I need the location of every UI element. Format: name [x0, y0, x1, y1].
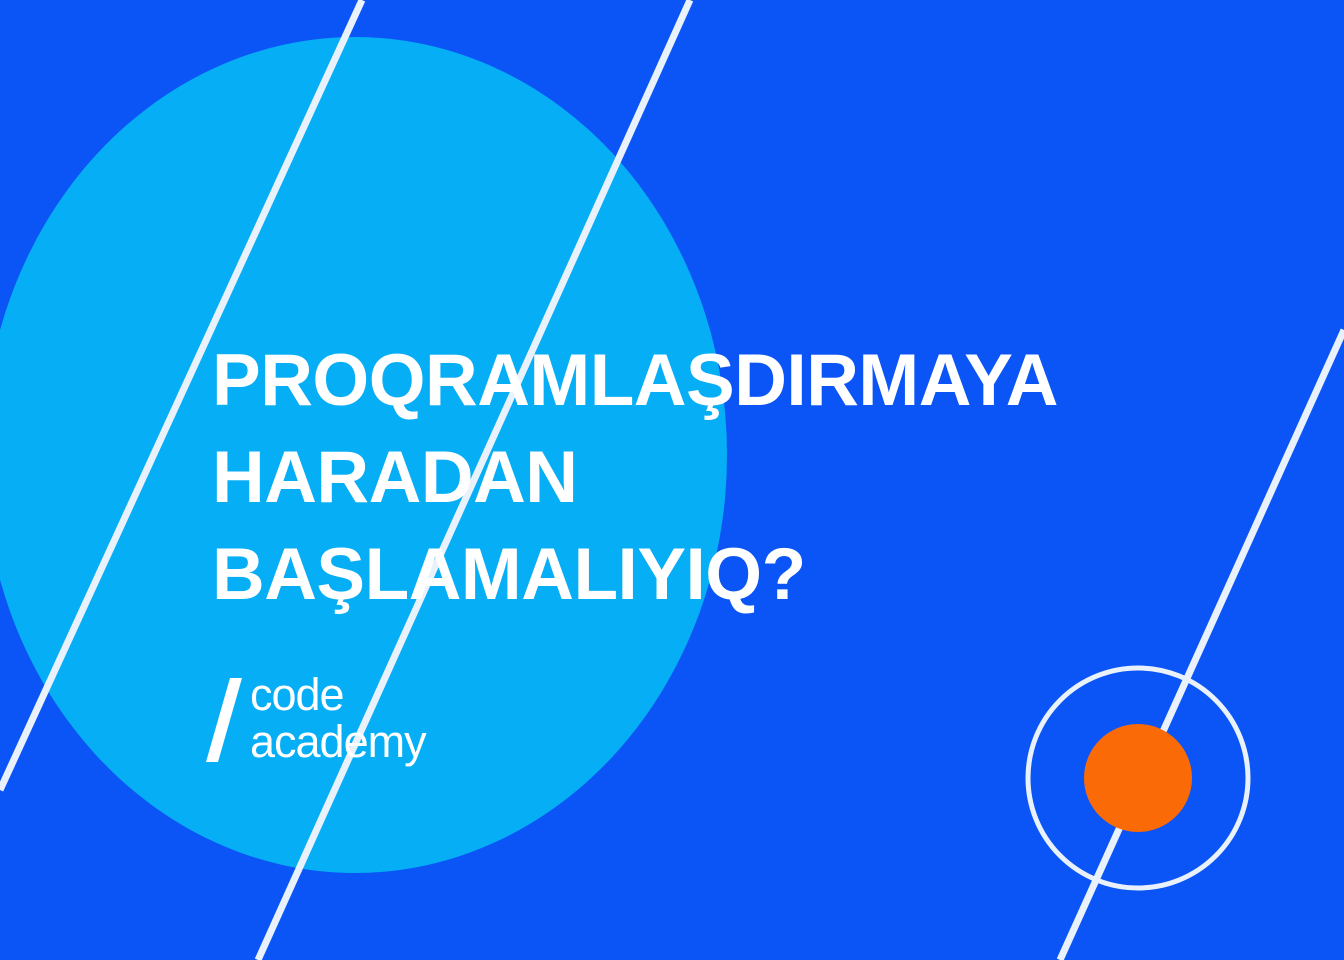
headline-line-2: HARADAN: [212, 429, 1272, 526]
brand-logo: code academy: [206, 672, 506, 768]
promo-poster: PROQRAMLAŞDIRMAYA HARADAN BAŞLAMALIYIQ? …: [0, 0, 1344, 960]
headline-line-1: PROQRAMLAŞDIRMAYA: [212, 332, 1272, 429]
slash-icon: [206, 678, 242, 762]
headline-line-3: BAŞLAMALIYIQ?: [212, 526, 1272, 623]
brand-logo-line-1: code: [250, 672, 426, 717]
brand-logo-line-2: academy: [250, 719, 426, 764]
page-title: PROQRAMLAŞDIRMAYA HARADAN BAŞLAMALIYIQ?: [212, 332, 1272, 623]
poster-content: PROQRAMLAŞDIRMAYA HARADAN BAŞLAMALIYIQ? …: [0, 0, 1344, 960]
brand-logo-wordmark: code academy: [250, 672, 426, 764]
